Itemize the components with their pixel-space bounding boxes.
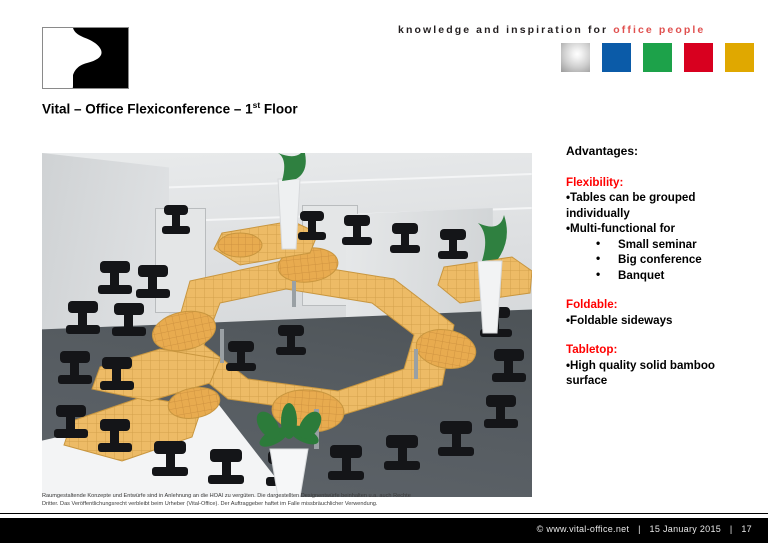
footer-page-number: 17 bbox=[741, 524, 752, 534]
vital-office-logo: Vital-Office® bbox=[42, 27, 129, 89]
page-title: Vital – Office Flexiconference – 1st Flo… bbox=[42, 100, 298, 117]
title-tail: Floor bbox=[260, 102, 298, 117]
footer-text: © www.vital-office.net | 15 January 2015… bbox=[537, 524, 752, 534]
section-label-flexibility: Flexibility: bbox=[566, 175, 764, 191]
logo-wordmark: Vital-Office® bbox=[95, 84, 129, 89]
section-label-foldable: Foldable: bbox=[566, 297, 764, 313]
tagline-main: knowledge and inspiration for bbox=[398, 24, 613, 36]
footer-rule bbox=[0, 513, 768, 514]
footer-date: 15 January 2015 bbox=[650, 524, 722, 534]
swatch-silver bbox=[561, 43, 590, 72]
swatch-blue bbox=[602, 43, 631, 72]
legal-line-1: Raumgestaltende Konzepte und Entwürfe si… bbox=[42, 492, 532, 500]
bullet-foldable-sideways: •Foldable sideways bbox=[566, 313, 764, 329]
sub-bullet-list: Small seminar Big conference Banquet bbox=[566, 237, 764, 284]
legal-line-2: Dritter. Das Veröffentlichungsrecht verb… bbox=[42, 500, 532, 508]
footer-separator-1: | bbox=[632, 524, 647, 534]
sub-bullet-small-seminar: Small seminar bbox=[566, 237, 764, 253]
panel-section-flexibility: Flexibility: •Tables can be grouped indi… bbox=[566, 175, 764, 284]
bullet-individually: individually bbox=[566, 206, 764, 222]
header-tagline: knowledge and inspiration for office peo… bbox=[398, 24, 705, 36]
footer-separator-2: | bbox=[724, 524, 739, 534]
bullet-bamboo-1: •High quality solid bamboo bbox=[566, 358, 764, 374]
conference-room-render bbox=[42, 153, 532, 497]
swatch-green bbox=[643, 43, 672, 72]
panel-heading: Advantages: bbox=[566, 144, 764, 160]
bullet-bamboo-2: surface bbox=[566, 373, 764, 389]
brand-swatch-row bbox=[561, 43, 754, 72]
sub-bullet-banquet: Banquet bbox=[566, 268, 764, 284]
slide-page: knowledge and inspiration for office peo… bbox=[0, 0, 768, 543]
footer-copyright[interactable]: © www.vital-office.net bbox=[537, 524, 630, 534]
section-label-tabletop: Tabletop: bbox=[566, 342, 764, 358]
swatch-gold bbox=[725, 43, 754, 72]
swatch-red bbox=[684, 43, 713, 72]
tagline-accent: office people bbox=[613, 24, 705, 36]
title-main: Vital – Office Flexiconference – 1 bbox=[42, 102, 253, 117]
sub-bullet-big-conference: Big conference bbox=[566, 252, 764, 268]
logo-yinyang-icon bbox=[43, 28, 128, 88]
legal-disclaimer: Raumgestaltende Konzepte und Entwürfe si… bbox=[42, 492, 532, 509]
render-planters bbox=[42, 153, 532, 497]
panel-section-foldable: Foldable: •Foldable sideways bbox=[566, 297, 764, 328]
bullet-tables-grouped: •Tables can be grouped bbox=[566, 190, 764, 206]
advantages-panel: Advantages: Flexibility: •Tables can be … bbox=[566, 144, 764, 389]
panel-section-tabletop: Tabletop: •High quality solid bamboo sur… bbox=[566, 342, 764, 389]
bullet-multifunctional: •Multi-functional for bbox=[566, 221, 764, 237]
